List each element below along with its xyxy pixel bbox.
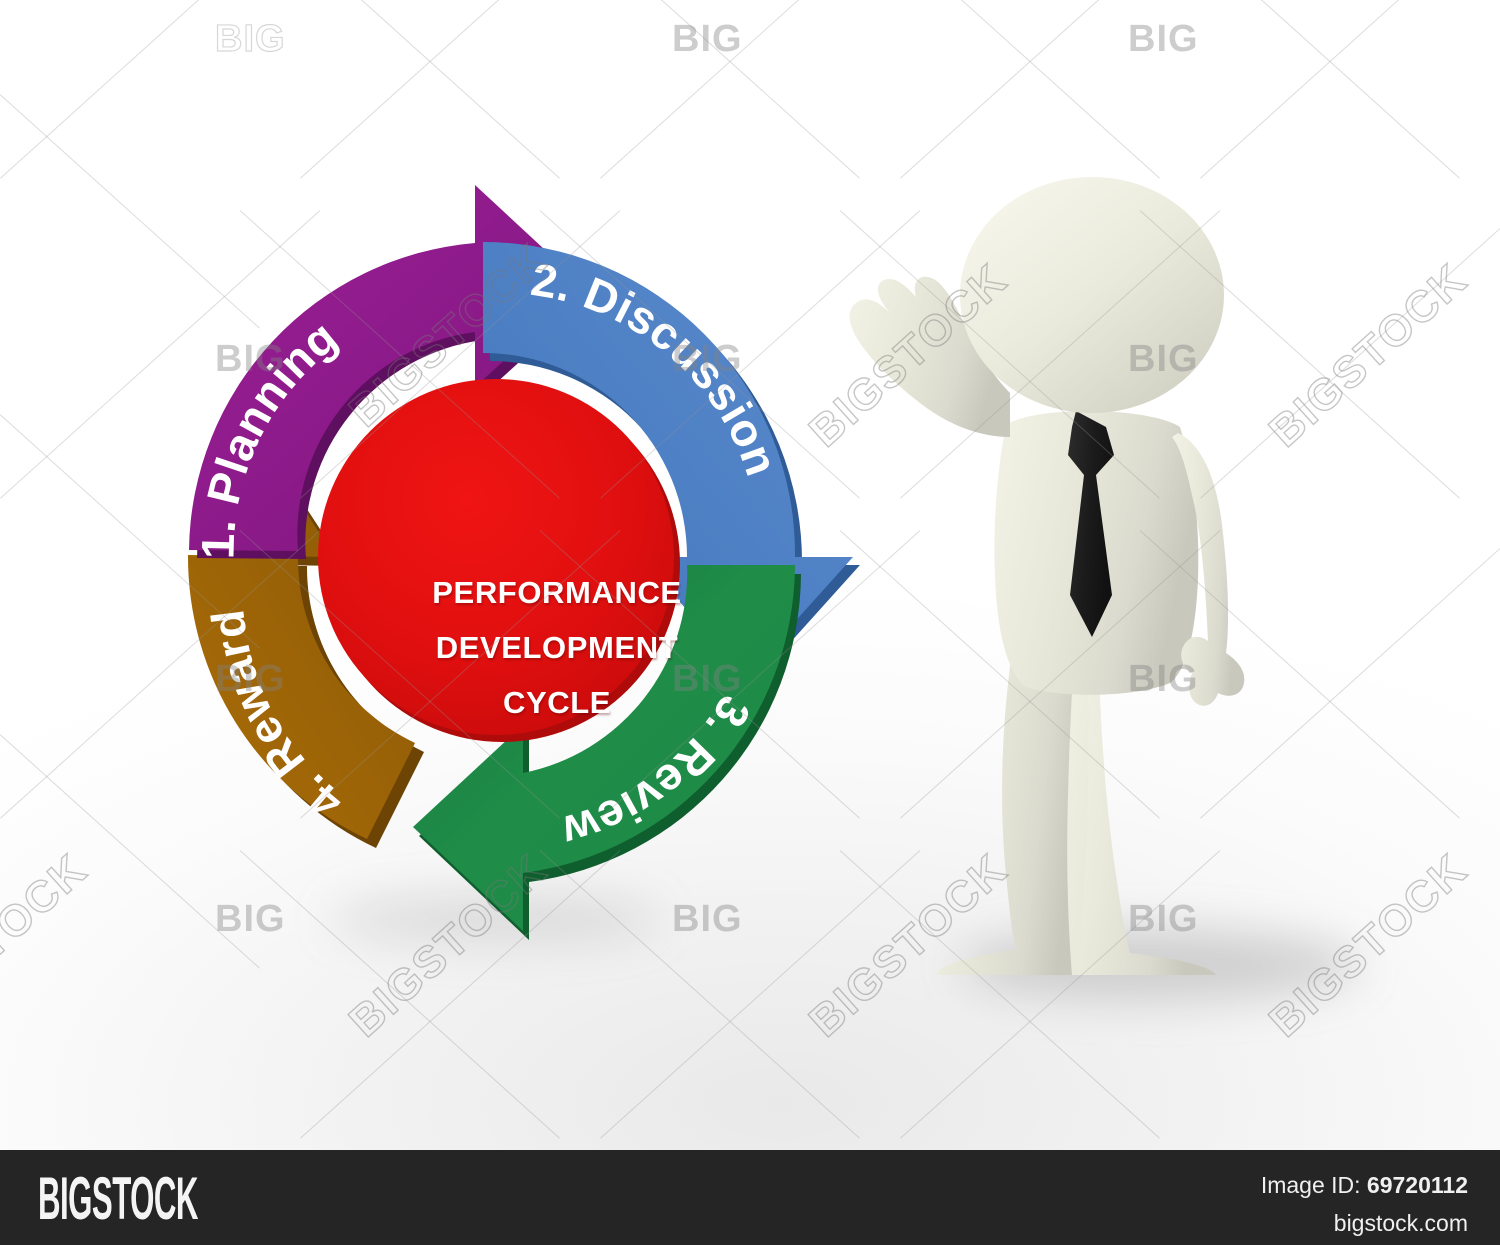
footer-meta: Image ID: 69720112 bigstock.com (1261, 1167, 1468, 1243)
bigstock-site-url[interactable]: bigstock.com (1261, 1205, 1468, 1243)
image-id-label: Image ID: (1261, 1172, 1361, 1198)
big-watermark: BIG (1128, 18, 1199, 61)
big-watermark: BIG (215, 18, 286, 61)
big-watermark: BIG (672, 18, 743, 61)
bigstock-logo: BIGSTOCK (38, 1164, 198, 1233)
image-id-value: 69720112 (1367, 1172, 1468, 1198)
bigstock-footer-bar: BIGSTOCK Image ID: 69720112 bigstock.com (0, 1150, 1500, 1245)
watermark-line (900, 0, 1220, 179)
figure-head (960, 177, 1224, 413)
3d-businessman-figure (820, 175, 1400, 975)
cycle-center-circle (318, 379, 680, 742)
screenshot-root: 1. Planning 2. Discussion 3. Review 4. R… (0, 0, 1500, 1245)
watermark-line (1200, 0, 1500, 179)
stock-photo-canvas: 1. Planning 2. Discussion 3. Review 4. R… (0, 0, 1500, 1150)
performance-development-cycle-diagram: 1. Planning 2. Discussion 3. Review 4. R… (85, 125, 915, 955)
bigstock-watermark: BIGSTOCK (0, 844, 97, 1047)
watermark-line (1140, 0, 1460, 179)
image-id-row: Image ID: 69720112 (1261, 1167, 1468, 1205)
